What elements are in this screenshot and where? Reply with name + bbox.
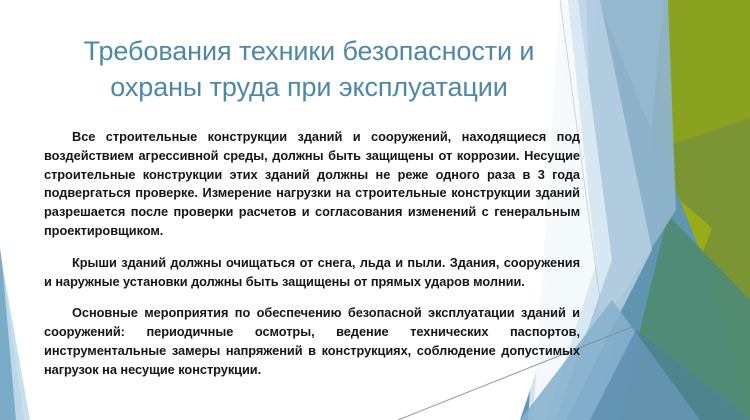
body-paragraph-3: Основные мероприятия по обеспечению безо…: [44, 304, 580, 379]
body-paragraph-2: Крыши зданий должны очищаться от снега, …: [44, 254, 580, 292]
slide-content: Требования техники безопасности и охраны…: [0, 0, 750, 420]
slide-title: Требования техники безопасности и охраны…: [44, 34, 574, 106]
slide-body: Все строительные конструкции зданий и со…: [44, 128, 580, 380]
body-paragraph-1: Все строительные конструкции зданий и со…: [44, 128, 580, 241]
presentation-slide: Требования техники безопасности и охраны…: [0, 0, 750, 420]
